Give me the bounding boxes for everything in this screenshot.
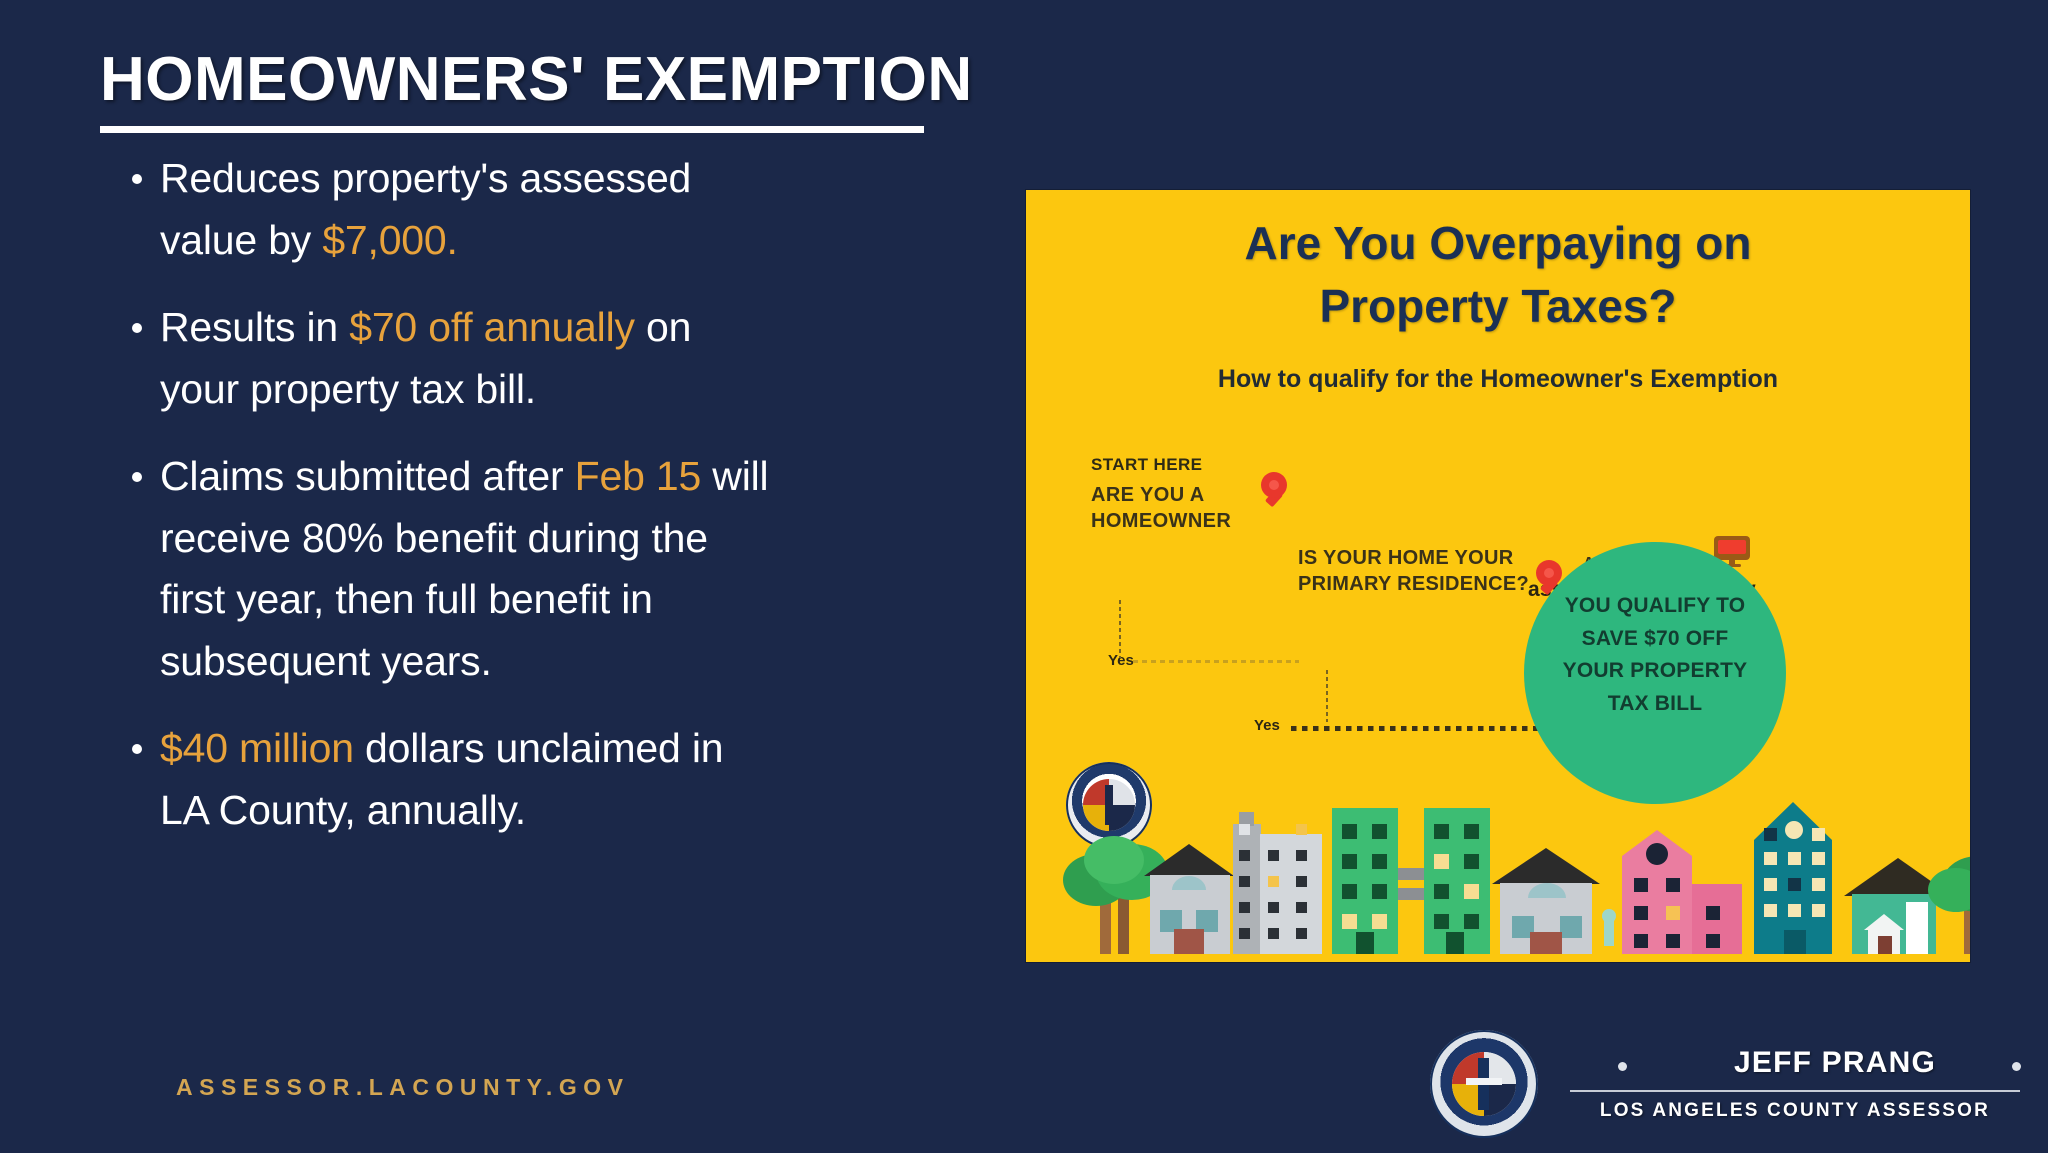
- question-homeowner-line1: ARE YOU A: [1091, 482, 1231, 508]
- bullet-text: Results in $70 off annually on your prop…: [160, 297, 772, 420]
- connector-horizontal-2: [1291, 726, 1539, 731]
- assessor-role: LOS ANGELES COUNTY ASSESSOR: [1570, 1100, 2020, 1122]
- infographic-title: Are You Overpaying on Property Taxes?: [1026, 212, 1970, 339]
- bullet-text: Reduces property's assessed value by $7,…: [160, 148, 772, 271]
- logo-divider: [1570, 1090, 2020, 1092]
- assessor-logo: JEFF PRANG LOS ANGELES COUNTY ASSESSOR: [1400, 1024, 2020, 1144]
- yes-label-2: Yes: [1254, 717, 1280, 734]
- bullet-dot-icon: [132, 323, 142, 333]
- list-item: Claims submitted after Feb 15 will recei…: [132, 446, 772, 692]
- connector-vertical-2: [1326, 670, 1328, 722]
- slide-root: HOMEOWNERS' EXEMPTION Reduces property's…: [0, 0, 2048, 1153]
- infographic-title-line2: Property Taxes?: [1026, 275, 1970, 338]
- qualify-line1: YOU QUALIFY TO: [1524, 590, 1786, 623]
- map-pin-icon: [1261, 472, 1287, 506]
- list-item: $40 million dollars unclaimed in LA Coun…: [132, 718, 772, 841]
- start-here-label: START HERE: [1091, 455, 1202, 475]
- bullet-list: Reduces property's assessed value by $7,…: [132, 148, 772, 867]
- title-underline: [100, 126, 924, 133]
- question-primary-residence-label: IS YOUR HOME YOUR PRIMARY RESIDENCE?: [1298, 545, 1529, 598]
- infographic-panel: Are You Overpaying on Property Taxes? Ho…: [1026, 190, 1970, 962]
- bullet-highlight: $7,000.: [322, 217, 457, 263]
- bullet-highlight: $40 million: [160, 725, 354, 771]
- bullet-text: Claims submitted after Feb 15 will recei…: [160, 446, 772, 692]
- county-seal-icon: [1430, 1030, 1538, 1138]
- question-primary-line2: PRIMARY RESIDENCE?: [1298, 571, 1529, 597]
- connector-horizontal-1: [1133, 660, 1299, 663]
- qualify-circle-text: YOU QUALIFY TO SAVE $70 OFF YOUR PROPERT…: [1524, 590, 1786, 720]
- list-item: Reduces property's assessed value by $7,…: [132, 148, 772, 271]
- bullet-dot-icon: [132, 472, 142, 482]
- assessor-name: JEFF PRANG: [1670, 1046, 2000, 1080]
- connector-vertical-1: [1119, 600, 1121, 658]
- qualify-line2: SAVE $70 OFF: [1524, 623, 1786, 656]
- bullet-text: $40 million dollars unclaimed in LA Coun…: [160, 718, 772, 841]
- bullet-segment: Claims submitted after: [160, 453, 575, 499]
- list-item: Results in $70 off annually on your prop…: [132, 297, 772, 420]
- infographic-subtitle: How to qualify for the Homeowner's Exemp…: [1026, 365, 1970, 394]
- decorative-dot-right: [2012, 1062, 2021, 1071]
- bullet-dot-icon: [132, 744, 142, 754]
- qualify-line3: YOUR PROPERTY: [1524, 655, 1786, 688]
- question-primary-line1: IS YOUR HOME YOUR: [1298, 545, 1529, 571]
- question-homeowner-label: ARE YOU A HOMEOWNER: [1091, 482, 1231, 535]
- qualify-line4: TAX BILL: [1524, 688, 1786, 721]
- bullet-dot-icon: [132, 174, 142, 184]
- decorative-dot-left: [1618, 1062, 1627, 1071]
- bullet-segment: Results in: [160, 304, 349, 350]
- infographic-title-line1: Are You Overpaying on: [1026, 212, 1970, 275]
- question-homeowner-line2: HOMEOWNER: [1091, 508, 1231, 534]
- cityscape-illustration: [1026, 772, 1970, 962]
- bullet-highlight: Feb 15: [575, 453, 701, 499]
- bullet-highlight: $70 off annually: [349, 304, 635, 350]
- page-title: HOMEOWNERS' EXEMPTION: [100, 44, 973, 115]
- footer-website-url[interactable]: ASSESSOR.LACOUNTY.GOV: [176, 1074, 629, 1101]
